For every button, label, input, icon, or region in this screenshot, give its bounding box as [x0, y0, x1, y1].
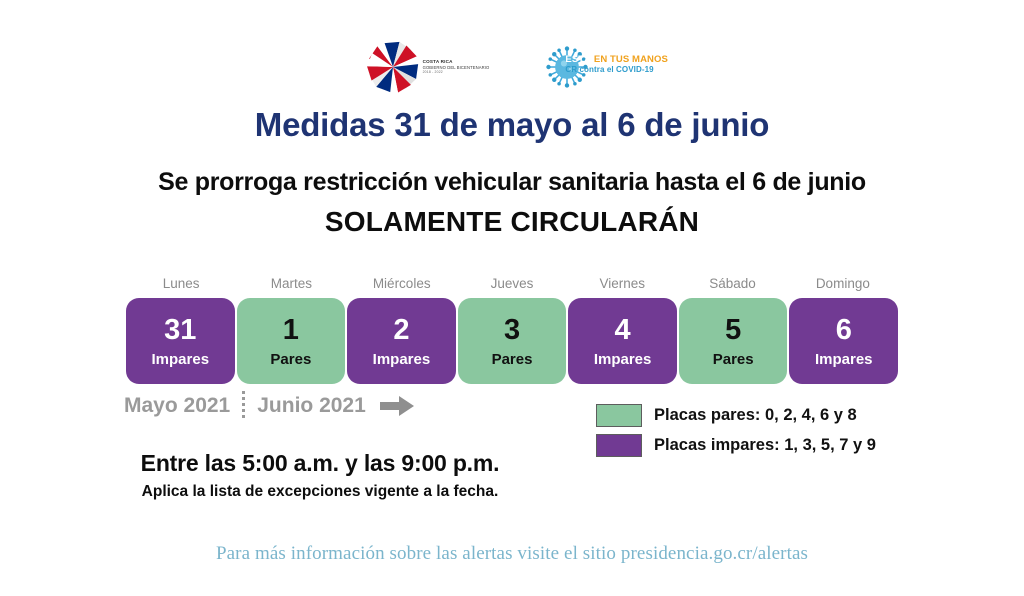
logo-bar: COSTA RICA GOBIERNO DEL BICENTENARIO 201…: [0, 38, 1024, 96]
day-name-row: Lunes Martes Miércoles Jueves Viernes Sá…: [126, 276, 898, 296]
day-name-sabado: Sábado: [677, 276, 787, 296]
day-card-sabado: 5 Pares: [679, 298, 788, 384]
week-schedule: Lunes Martes Miércoles Jueves Viernes Sá…: [126, 276, 898, 384]
day-card-miercoles: 2 Impares: [347, 298, 456, 384]
arrow-right-icon: [380, 396, 414, 416]
day-card-jueves: 3 Pares: [458, 298, 567, 384]
day-plate-label: Pares: [270, 352, 311, 367]
day-name-miercoles: Miércoles: [347, 276, 457, 296]
day-number: 3: [504, 316, 520, 345]
day-plate-label: Pares: [713, 352, 754, 367]
footer-info: Para más información sobre las alertas v…: [0, 543, 1024, 565]
day-number: 4: [615, 316, 631, 345]
month-previous: Mayo 2021: [124, 394, 230, 418]
day-plate-label: Impares: [152, 352, 210, 367]
costa-rica-government-logo: COSTA RICA GOBIERNO DEL BICENTENARIO 201…: [367, 41, 490, 93]
day-number: 31: [164, 316, 196, 345]
day-plate-label: Pares: [492, 352, 533, 367]
day-plate-label: Impares: [594, 352, 652, 367]
day-name-martes: Martes: [236, 276, 346, 296]
month-current: Junio 2021: [257, 394, 366, 418]
day-name-domingo: Domingo: [788, 276, 898, 296]
legend-label-odd: Placas impares: 1, 3, 5, 7 y 9: [654, 436, 876, 455]
month-range: Mayo 2021 Junio 2021: [124, 392, 414, 420]
month-divider: [242, 391, 245, 421]
schedule-hours: Entre las 5:00 a.m. y las 9:00 p.m.: [0, 450, 640, 477]
schedule-note: Aplica la lista de excepciones vigente a…: [0, 483, 640, 501]
page-title: Medidas 31 de mayo al 6 de junio: [0, 106, 1024, 144]
day-name-viernes: Viernes: [567, 276, 677, 296]
day-card-viernes: 4 Impares: [568, 298, 677, 384]
covid-logo-line1-highlight: ESTÁ: [565, 54, 591, 65]
day-card-row: 31 Impares 1 Pares 2 Impares 3 Pares 4 I…: [126, 298, 898, 384]
day-plate-label: Impares: [373, 352, 431, 367]
covid-logo-line1-rest: EN TUS MANOS: [591, 54, 668, 65]
day-number: 2: [393, 316, 409, 345]
day-name-lunes: Lunes: [126, 276, 236, 296]
legend-row-even: Placas pares: 0, 2, 4, 6 y 8: [596, 402, 876, 428]
subtitle-primary: Se prorroga restricción vehicular sanita…: [0, 168, 1024, 197]
subtitle-secondary: SOLAMENTE CIRCULARÁN: [0, 206, 1024, 238]
covid-logo-text: ESTÁ EN TUS MANOS CR contra el COVID-19: [565, 55, 668, 74]
day-card-domingo: 6 Impares: [789, 298, 898, 384]
day-card-martes: 1 Pares: [237, 298, 346, 384]
government-logo-text: COSTA RICA GOBIERNO DEL BICENTENARIO 201…: [423, 59, 490, 74]
day-name-jueves: Jueves: [457, 276, 567, 296]
covid-logo-line2: CR contra el COVID-19: [565, 66, 668, 74]
government-star-icon: [367, 41, 419, 93]
day-number: 6: [836, 316, 852, 345]
covid-campaign-logo: ESTÁ EN TUS MANOS CR contra el COVID-19: [545, 43, 657, 91]
government-logo-line3: 2018 - 2022: [423, 70, 490, 74]
covid-logo-line1: ESTÁ EN TUS MANOS: [565, 55, 668, 65]
day-number: 1: [283, 316, 299, 345]
day-plate-label: Impares: [815, 352, 873, 367]
legend-label-even: Placas pares: 0, 2, 4, 6 y 8: [654, 406, 857, 425]
legend-swatch-even: [596, 404, 642, 427]
day-number: 5: [725, 316, 741, 345]
day-card-lunes: 31 Impares: [126, 298, 235, 384]
